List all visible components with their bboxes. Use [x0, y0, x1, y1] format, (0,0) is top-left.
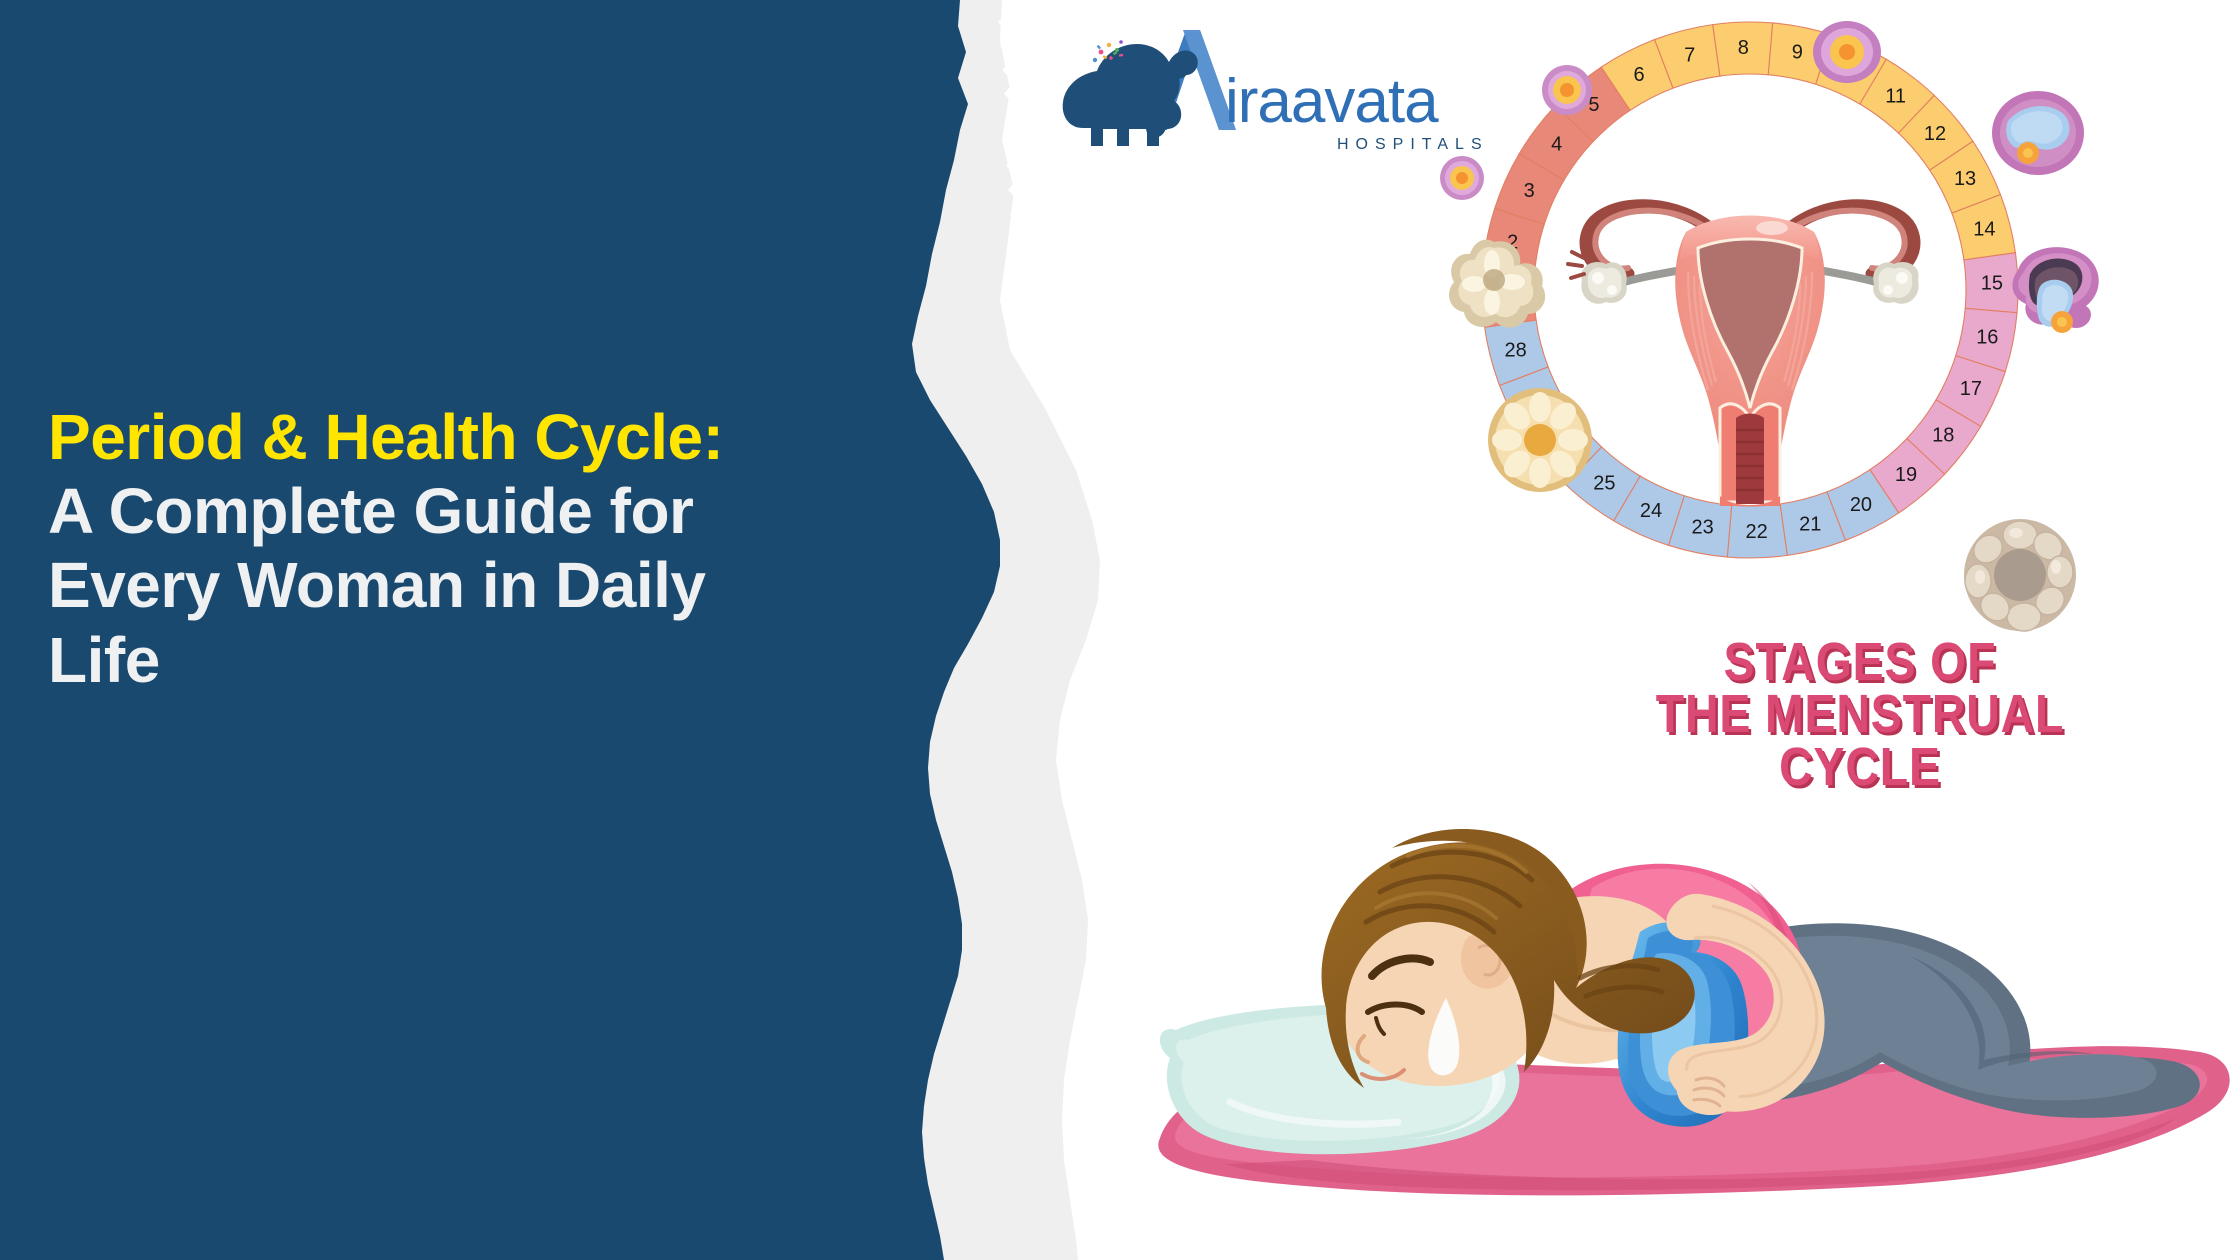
cycle-day-label-21: 21: [1799, 513, 1821, 535]
cycle-day-label-8: 8: [1738, 37, 1749, 59]
cycle-day-label-28: 28: [1505, 339, 1527, 361]
cycle-day-label-11: 11: [1885, 86, 1906, 108]
ovary-right-icon: [1873, 262, 1918, 304]
cycle-day-label-18: 18: [1932, 425, 1954, 447]
uterus-diagram-icon: [1568, 206, 1919, 506]
cycle-day-label-17: 17: [1960, 378, 1982, 400]
ovary-left-icon: [1581, 262, 1626, 304]
headline-line-2: A Complete Guide for: [48, 474, 1028, 548]
headline-line-4: Life: [48, 623, 1028, 697]
headline-line-1: Period & Health Cycle:: [48, 400, 1028, 474]
cycle-day-label-20: 20: [1850, 494, 1872, 516]
cycle-day-label-12: 12: [1924, 123, 1946, 145]
headline-line-3: Every Woman in Daily: [48, 548, 1028, 622]
cycle-day-label-16: 16: [1976, 326, 1998, 348]
cycle-day-label-25: 25: [1593, 472, 1615, 494]
ovum-cell-icon-1: [1542, 65, 1592, 115]
cycle-day-label-24: 24: [1640, 500, 1662, 522]
cycle-day-label-4: 4: [1551, 133, 1562, 155]
cycle-day-label-13: 13: [1954, 168, 1976, 190]
stages-title-line-1: STAGES OF: [1645, 636, 2075, 688]
blastocyst-icon: [1964, 519, 2076, 631]
cycle-day-label-19: 19: [1895, 464, 1917, 486]
ovum-cell-icon-2: [1440, 156, 1484, 200]
cycle-day-label-22: 22: [1746, 521, 1768, 543]
menstrual-cycle-wheel: 1234567891011121314151617181920212223242…: [1430, 0, 2170, 690]
corpus-luteum-icon: [1488, 388, 1592, 492]
cycle-day-label-6: 6: [1633, 64, 1644, 86]
ovum-cell-icon-3: [1813, 21, 1881, 83]
cycle-day-label-9: 9: [1792, 42, 1803, 64]
cycle-day-label-23: 23: [1692, 516, 1714, 538]
cycle-day-label-15: 15: [1981, 272, 2003, 294]
ruptured-follicle-icon: [2012, 247, 2098, 333]
logo-wordmark: iraavata: [1225, 67, 1439, 136]
cycle-day-label-3: 3: [1524, 180, 1535, 202]
woman-with-cramps-illustration: [1140, 740, 2240, 1260]
stages-title-line-2: THE MENSTRUAL: [1645, 688, 2075, 740]
poster-canvas: Period & Health Cycle: A Complete Guide …: [0, 0, 2240, 1260]
cycle-day-label-7: 7: [1684, 45, 1695, 67]
follicle-cell-icon: [1992, 91, 2084, 175]
page-title: Period & Health Cycle: A Complete Guide …: [48, 400, 1028, 697]
cycle-day-label-14: 14: [1973, 219, 1995, 241]
